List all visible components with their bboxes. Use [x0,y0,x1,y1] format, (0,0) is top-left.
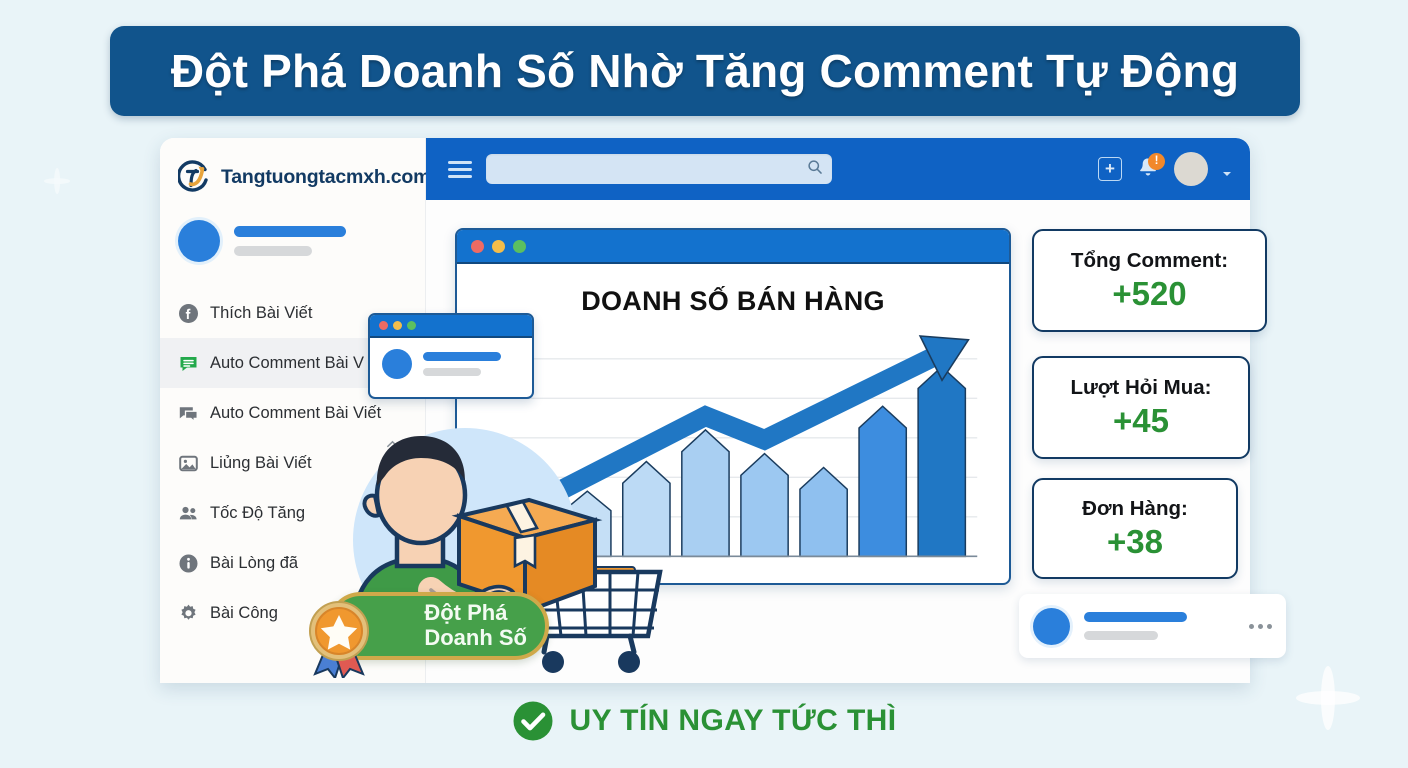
topbar: + ! [426,138,1250,200]
gear-icon [178,603,199,624]
placeholder-bar [423,352,501,361]
badge-line-1: Đột Phá [424,600,507,625]
chart-bar [859,406,906,556]
avatar [178,220,220,262]
sidebar-item-label: Thích Bài Viết [210,304,312,323]
hamburger-icon[interactable] [448,161,472,178]
stat-card-don-hang: Đơn Hàng: +38 [1032,478,1238,579]
placeholder-lines [423,352,501,376]
maximize-dot-icon[interactable] [407,321,416,330]
stat-label: Lượt Hỏi Mua: [1070,376,1211,400]
placeholder-bar [1084,612,1187,622]
minimize-dot-icon[interactable] [393,321,402,330]
image-icon [178,453,199,474]
people-icon [178,503,199,524]
stat-value: +45 [1113,402,1169,440]
breakthrough-badge: Đột Phá Doanh Số [327,592,549,660]
title-banner: Đột Phá Doanh Số Nhờ Tăng Comment Tự Độn… [110,26,1300,116]
info-icon [178,553,199,574]
plus-square-icon[interactable]: + [1098,157,1122,181]
close-dot-icon[interactable] [379,321,388,330]
topbar-actions: + ! [1098,152,1238,186]
brand-name: Tangtuongtacmxh.com [221,166,430,189]
chart-bar [741,454,788,557]
sidebar-item-label: Auto Comment Bài V [210,354,364,373]
stat-label: Tổng Comment: [1071,249,1228,273]
search-input[interactable] [495,162,807,177]
placeholder-bar [234,246,312,256]
avatar[interactable] [1174,152,1208,186]
comment-green-icon [178,353,199,374]
sidebar-item-label: Liủng Bài Viết [210,454,312,473]
chart-bar [918,367,965,557]
mini-window-titlebar [370,315,532,338]
search-icon [807,159,823,180]
badge-line-2: Doanh Số [424,625,527,650]
avatar [1033,608,1070,645]
profile-placeholder-lines [234,226,346,256]
footer-text: UY TÍN NGAY TỨC THÌ [570,704,897,738]
chart-title: DOANH SỐ BÁN HÀNG [457,286,1009,317]
chart-window-titlebar [457,230,1009,264]
chart-bar [800,467,847,556]
comments-grey-icon [178,403,199,424]
facebook-icon [178,303,199,324]
mini-window-content [370,338,532,379]
placeholder-lines [1084,612,1187,640]
minimize-dot-icon[interactable] [492,240,505,253]
maximize-dot-icon[interactable] [513,240,526,253]
close-dot-icon[interactable] [471,240,484,253]
stat-card-tong-comment: Tổng Comment: +520 [1032,229,1267,332]
stat-card-luot-hoi-mua: Lượt Hỏi Mua: +45 [1032,356,1250,459]
sidebar-item-label: Bài Lòng đã [210,554,298,573]
check-circle-icon [512,700,554,742]
sparkle-decoration [44,168,70,194]
brand[interactable]: Tangtuongtacmxh.com [160,138,425,194]
badge-text: Đột Phá Doanh Số [424,601,527,650]
more-horizontal-icon[interactable] [1249,624,1272,629]
avatar [382,349,412,379]
sidebar-item-label: Bài Công [210,604,278,623]
search-field[interactable] [486,154,832,184]
sidebar-profile[interactable] [160,194,425,262]
placeholder-bar [234,226,346,237]
sidebar-item-label: Tốc Độ Tăng [210,504,305,523]
circle-arrow-logo-icon [178,160,212,194]
stat-value: +520 [1112,275,1186,313]
stat-label: Đơn Hàng: [1082,497,1188,521]
bell-icon[interactable]: ! [1136,156,1160,182]
placeholder-bar [1084,631,1158,640]
page-title: Đột Phá Doanh Số Nhờ Tăng Comment Tự Độn… [171,44,1239,98]
medal-star-icon [303,598,379,678]
notification-badge: ! [1148,153,1165,170]
floating-mini-window [368,313,534,399]
placeholder-bar [423,368,481,376]
chevron-down-icon[interactable] [1222,165,1232,173]
stat-value: +38 [1107,523,1163,561]
footer-banner: UY TÍN NGAY TỨC THÌ [0,700,1408,742]
feed-placeholder-card[interactable] [1019,594,1286,658]
